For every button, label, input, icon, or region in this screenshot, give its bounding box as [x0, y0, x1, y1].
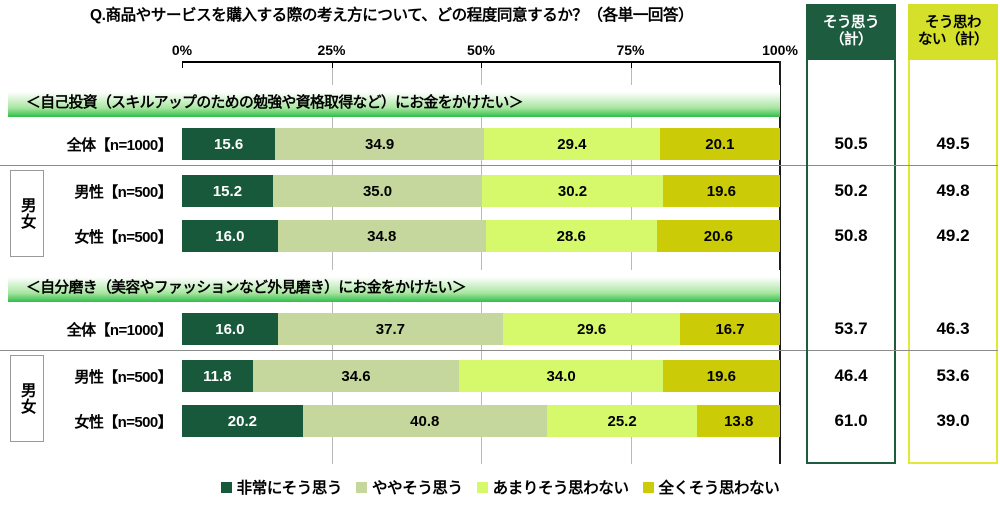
bar-segment: 19.6 — [663, 175, 780, 207]
agree-total-value: 50.5 — [806, 125, 896, 163]
bar-segment: 34.9 — [275, 128, 484, 160]
chart-legend: 非常にそう思うややそう思うあまりそう思わない全くそう思わない — [0, 476, 1000, 498]
bar-segment: 35.0 — [273, 175, 482, 207]
bar-segment: 28.6 — [486, 220, 657, 252]
agree-total-value: 61.0 — [806, 402, 896, 440]
legend-item[interactable]: あまりそう思わない — [477, 476, 629, 498]
x-axis-labels: 0%25%50%75%100% — [0, 42, 800, 60]
x-axis-tick-label: 0% — [172, 42, 192, 58]
bar-segment: 30.2 — [482, 175, 663, 207]
column-header-agree-total: そう思う （計） — [806, 4, 896, 60]
row-label: 全体【n=1000】 — [20, 310, 172, 348]
column-header-agree-line2: （計） — [830, 32, 872, 49]
bar-segment: 37.7 — [278, 313, 503, 345]
row-separator — [0, 350, 806, 351]
bar-segment: 19.6 — [663, 360, 780, 392]
legend-swatch-icon — [643, 482, 654, 493]
section-header-label: ＜自分磨き（美容やファッションなど外見磨き）にお金をかけたい＞ — [8, 276, 466, 297]
bar-segment: 25.2 — [547, 405, 698, 437]
table-row: 全体【n=1000】16.037.729.616.753.746.3 — [0, 310, 1000, 348]
table-row: 女性【n=500】16.034.828.620.650.849.2 — [0, 217, 1000, 255]
x-axis-tick-label: 75% — [616, 42, 644, 58]
disagree-total-value: 53.6 — [908, 357, 998, 395]
column-header-disagree-total: そう思わ ない（計） — [908, 4, 998, 60]
bar-segment: 34.6 — [253, 360, 460, 392]
legend-label: 全くそう思わない — [659, 476, 780, 498]
agree-total-value: 53.7 — [806, 310, 896, 348]
agree-total-value: 50.8 — [806, 217, 896, 255]
agree-total-value: 46.4 — [806, 357, 896, 395]
stacked-bar: 16.037.729.616.7 — [182, 313, 780, 345]
gender-group-bracket: 男女 — [10, 170, 44, 257]
section-header-band: ＜自己投資（スキルアップのための勉強や資格取得など）にお金をかけたい＞ — [8, 85, 780, 117]
stacked-bar: 16.034.828.620.6 — [182, 220, 780, 252]
x-axis-tick — [481, 61, 482, 68]
bar-segment: 34.8 — [278, 220, 486, 252]
bar-segment: 11.8 — [182, 360, 253, 392]
disagree-total-value: 49.2 — [908, 217, 998, 255]
legend-swatch-icon — [356, 482, 367, 493]
stacked-bar: 15.634.929.420.1 — [182, 128, 780, 160]
disagree-total-value: 39.0 — [908, 402, 998, 440]
legend-item[interactable]: ややそう思う — [356, 476, 463, 498]
chart-page: Q.商品やサービスを購入する際の考え方について、どの程度同意するか？（各単一回答… — [0, 0, 1000, 508]
bar-segment: 15.6 — [182, 128, 275, 160]
bar-segment: 16.0 — [182, 313, 278, 345]
disagree-total-value: 46.3 — [908, 310, 998, 348]
table-row: 全体【n=1000】15.634.929.420.150.549.5 — [0, 125, 1000, 163]
gender-group-bracket: 男女 — [10, 355, 44, 442]
legend-swatch-icon — [221, 482, 232, 493]
row-separator-right — [808, 350, 998, 351]
x-axis-tick-label: 100% — [762, 42, 798, 58]
gender-group-label: 男女 — [19, 197, 35, 230]
column-header-agree-line1: そう思う — [823, 15, 879, 32]
table-row: 男性【n=500】15.235.030.219.650.249.8 — [0, 172, 1000, 210]
legend-item[interactable]: 非常にそう思う — [221, 476, 342, 498]
stacked-bar: 20.240.825.213.8 — [182, 405, 780, 437]
legend-item[interactable]: 全くそう思わない — [643, 476, 780, 498]
row-separator — [0, 165, 806, 166]
disagree-total-value: 49.5 — [908, 125, 998, 163]
legend-swatch-icon — [477, 482, 488, 493]
section-header-label: ＜自己投資（スキルアップのための勉強や資格取得など）にお金をかけたい＞ — [8, 91, 523, 112]
agree-total-value: 50.2 — [806, 172, 896, 210]
x-axis-tick-label: 50% — [467, 42, 495, 58]
legend-label: ややそう思う — [372, 476, 463, 498]
bar-segment: 29.4 — [484, 128, 660, 160]
table-row: 女性【n=500】20.240.825.213.861.039.0 — [0, 402, 1000, 440]
disagree-total-value: 49.8 — [908, 172, 998, 210]
legend-label: 非常にそう思う — [237, 476, 342, 498]
stacked-bar: 15.235.030.219.6 — [182, 175, 780, 207]
x-axis-tick — [182, 61, 183, 68]
page-title: Q.商品やサービスを購入する際の考え方について、どの程度同意するか？（各単一回答… — [90, 3, 810, 25]
legend-label: あまりそう思わない — [493, 476, 629, 498]
bar-segment: 40.8 — [303, 405, 547, 437]
stacked-bar: 11.834.634.019.6 — [182, 360, 780, 392]
bar-segment: 16.0 — [182, 220, 278, 252]
bar-segment: 29.6 — [503, 313, 680, 345]
x-axis-tick — [332, 61, 333, 68]
bar-segment: 20.6 — [657, 220, 780, 252]
bar-segment: 16.7 — [680, 313, 780, 345]
bar-segment: 20.1 — [660, 128, 780, 160]
table-row: 男性【n=500】11.834.634.019.646.453.6 — [0, 357, 1000, 395]
bar-segment: 13.8 — [697, 405, 780, 437]
bar-segment: 34.0 — [459, 360, 662, 392]
column-header-disagree-line1: そう思わ — [925, 15, 981, 32]
x-axis-tick — [631, 61, 632, 68]
gender-group-label: 男女 — [19, 382, 35, 415]
bar-segment: 15.2 — [182, 175, 273, 207]
column-header-disagree-line2: ない（計） — [918, 32, 988, 49]
section-header-band: ＜自分磨き（美容やファッションなど外見磨き）にお金をかけたい＞ — [8, 270, 780, 302]
x-axis-tick-label: 25% — [317, 42, 345, 58]
row-separator-right — [808, 165, 998, 166]
row-label: 全体【n=1000】 — [20, 125, 172, 163]
bar-segment: 20.2 — [182, 405, 303, 437]
